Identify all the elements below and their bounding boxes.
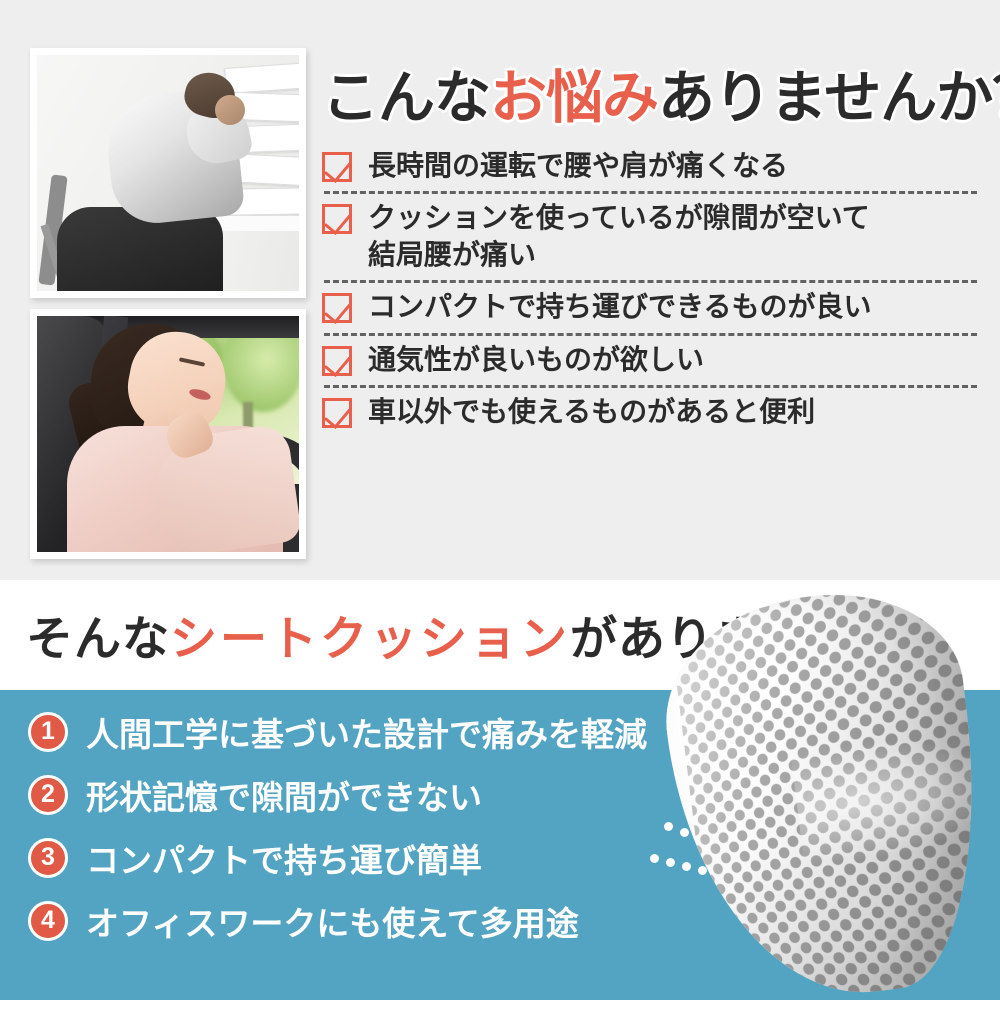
decor-dot — [698, 866, 707, 875]
feature-number-badge: 2 — [28, 775, 68, 815]
checklist-item-label: コンパクトで持ち運びできるものが良い — [368, 289, 871, 325]
checklist-divider — [324, 333, 977, 336]
decor-dot — [722, 820, 731, 829]
headline-suffix: ありませんか？ — [658, 66, 1000, 130]
decor-dot — [650, 854, 659, 863]
checklist-item-label: 通気性が良いものが欲しい — [368, 342, 704, 378]
checklist-item: 長時間の運転で腰や肩が痛くなる — [322, 142, 977, 191]
photo-woman-in-car-image — [37, 316, 299, 552]
solution-prefix: そんな — [26, 612, 170, 665]
checkbox-checked-icon — [322, 204, 352, 234]
checklist-divider — [324, 191, 977, 194]
checklist-divider — [324, 280, 977, 283]
decor-dot — [696, 834, 705, 843]
checkbox-checked-icon — [322, 293, 352, 323]
decor-dot — [682, 862, 691, 871]
document-box — [224, 62, 299, 94]
checklist-divider — [324, 385, 977, 388]
feature-item: 4 オフィスワークにも使えて多用途 — [28, 889, 688, 952]
decor-dot — [666, 858, 675, 867]
photo-man-at-desk-image — [37, 55, 299, 291]
man-hand — [215, 95, 245, 125]
problem-checklist: 長時間の運転で腰や肩が痛くなる クッションを使っているが隙間が空いて 結局腰が痛… — [322, 142, 977, 437]
feature-item-label: コンパクトで持ち運び簡単 — [86, 834, 482, 882]
solution-suffix: があります！ — [570, 612, 858, 665]
feature-number-badge: 1 — [28, 712, 68, 752]
solution-highlight: シートクッション — [170, 612, 570, 665]
checkbox-checked-icon — [322, 346, 352, 376]
decor-dot — [710, 840, 719, 849]
headline-prefix: こんな — [322, 66, 490, 130]
checklist-item: クッションを使っているが隙間が空いて 結局腰が痛い — [322, 194, 977, 280]
feature-number-badge: 4 — [28, 901, 68, 941]
checklist-item-label: クッションを使っているが隙間が空いて 結局腰が痛い — [368, 200, 870, 273]
page-title: こんなお悩みありませんか？ — [322, 52, 1000, 134]
feature-number-badge: 3 — [28, 838, 68, 878]
decorative-dots — [664, 792, 784, 884]
checklist-item-label: 車以外でも使えるものがあると便利 — [368, 394, 815, 430]
checklist-item: コンパクトで持ち運びできるものが良い — [322, 283, 977, 332]
problem-section: こんなお悩みありませんか？ 長時間の運転で腰や肩が痛くなる クッションを使ってい… — [0, 0, 1000, 580]
decor-dot — [708, 792, 717, 801]
decor-dot — [664, 822, 673, 831]
problem-photo-column — [30, 48, 306, 570]
photo-man-at-desk — [30, 48, 306, 298]
solution-headline: そんなシートクッションがあります！ — [26, 600, 858, 669]
headline-highlight: お悩み — [490, 66, 658, 130]
decor-dot — [716, 806, 725, 815]
checkbox-checked-icon — [322, 398, 352, 428]
checkbox-checked-icon — [322, 152, 352, 182]
decor-dot — [680, 828, 689, 837]
feature-item: 1 人間工学に基づいた設計で痛みを軽減 — [28, 700, 688, 763]
feature-item: 2 形状記憶で隙間ができない — [28, 763, 688, 826]
feature-item: 3 コンパクトで持ち運び簡単 — [28, 826, 688, 889]
desk-side-panel — [213, 231, 299, 291]
feature-item-label: 人間工学に基づいた設計で痛みを軽減 — [86, 708, 647, 756]
checklist-item-label: 長時間の運転で腰や肩が痛くなる — [368, 148, 788, 184]
checklist-item: 車以外でも使えるものがあると便利 — [322, 388, 977, 437]
feature-list: 1 人間工学に基づいた設計で痛みを軽減 2 形状記憶で隙間ができない 3 コンパ… — [28, 700, 688, 952]
checklist-item: 通気性が良いものが欲しい — [322, 336, 977, 385]
feature-item-label: 形状記憶で隙間ができない — [86, 771, 482, 819]
photo-woman-in-car — [30, 309, 306, 559]
feature-item-label: オフィスワークにも使えて多用途 — [86, 897, 579, 945]
